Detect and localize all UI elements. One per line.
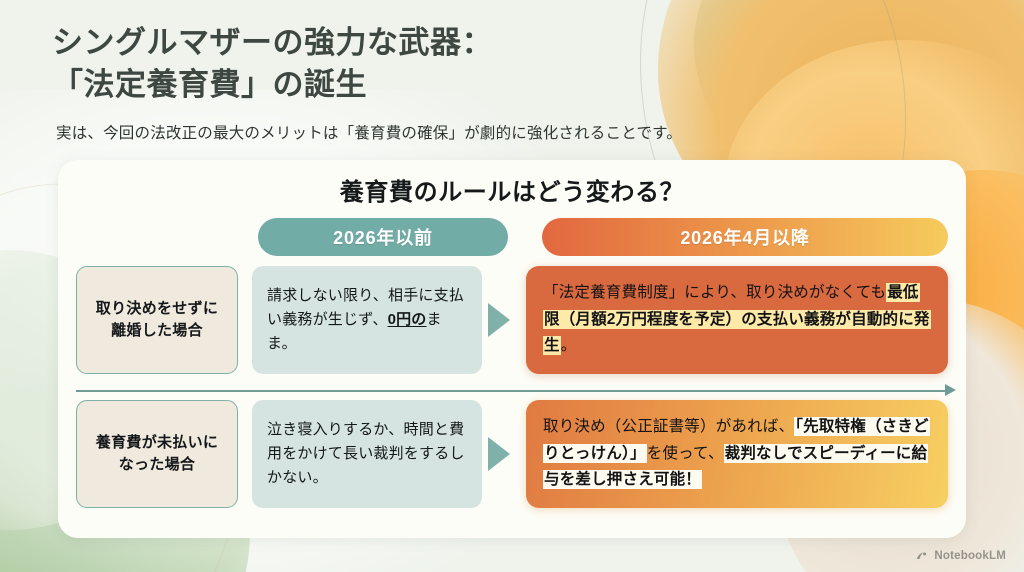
page-title: シングルマザーの強力な武器： 「法定養育費」の誕生 (52, 22, 902, 105)
before-underline-text: 0円の (388, 311, 427, 328)
after-lead-text: 取り決め（公正証書等）があれば、 (543, 418, 794, 435)
row-label: 取り決めをせずに 離婚した場合 (76, 266, 238, 374)
cell-after-state: 取り決め（公正証書等）があれば、「先取特権（さきどりとっけん）」を使って、裁判な… (526, 400, 948, 508)
after-mid-text: を使って、 (647, 445, 724, 462)
comparison-card: 養育費のルールはどう変わる？ 2026年以前 2026年4月以降 取り決めをせず… (58, 160, 966, 538)
row-arrow (482, 266, 526, 374)
before-lead-text: 泣き寝入りするか、時間と費用をかけて長い裁判をするしかない。 (267, 421, 465, 487)
row-arrow (482, 400, 526, 508)
watermark-label: NotebookLM (934, 550, 1006, 562)
table-row: 取り決めをせずに 離婚した場合 請求しない限り、相手に支払い義務が生じず、0円の… (76, 266, 948, 374)
table-row: 養育費が未払いに なった場合 泣き寝入りするか、時間と費用をかけて長い裁判をする… (76, 400, 948, 508)
column-headers: 2026年以前 2026年4月以降 (258, 218, 948, 256)
divider-line (76, 390, 948, 392)
column-header-after: 2026年4月以降 (542, 218, 948, 256)
notebooklm-icon (915, 549, 929, 563)
divider-arrowhead-icon (945, 384, 956, 396)
slide: シングルマザーの強力な武器： 「法定養育費」の誕生 実は、今回の法改正の最大のメ… (0, 0, 1024, 572)
after-tail-text: 。 (561, 337, 577, 354)
cell-before-state: 請求しない限り、相手に支払い義務が生じず、0円のまま。 (252, 266, 482, 374)
card-title: 養育費のルールはどう変わる？ (58, 172, 966, 207)
row-label: 養育費が未払いに なった場合 (76, 400, 238, 508)
cell-before-state: 泣き寝入りするか、時間と費用をかけて長い裁判をするしかない。 (252, 400, 482, 508)
arrow-right-icon (488, 303, 510, 337)
row-progress-arrow (76, 384, 956, 398)
arrow-right-icon (488, 437, 510, 471)
slide-header: シングルマザーの強力な武器： 「法定養育費」の誕生 実は、今回の法改正の最大のメ… (52, 22, 902, 143)
watermark: NotebookLM (915, 549, 1006, 563)
after-lead-text: 「法定養育費制度」により、取り決めがなくても (543, 284, 886, 301)
column-header-before: 2026年以前 (258, 218, 508, 256)
cell-after-state: 「法定養育費制度」により、取り決めがなくても最低限（月額2万円程度を予定）の支払… (526, 266, 948, 374)
page-subtitle: 実は、今回の法改正の最大のメリットは「養育費の確保」が劇的に強化されることです。 (56, 121, 902, 143)
